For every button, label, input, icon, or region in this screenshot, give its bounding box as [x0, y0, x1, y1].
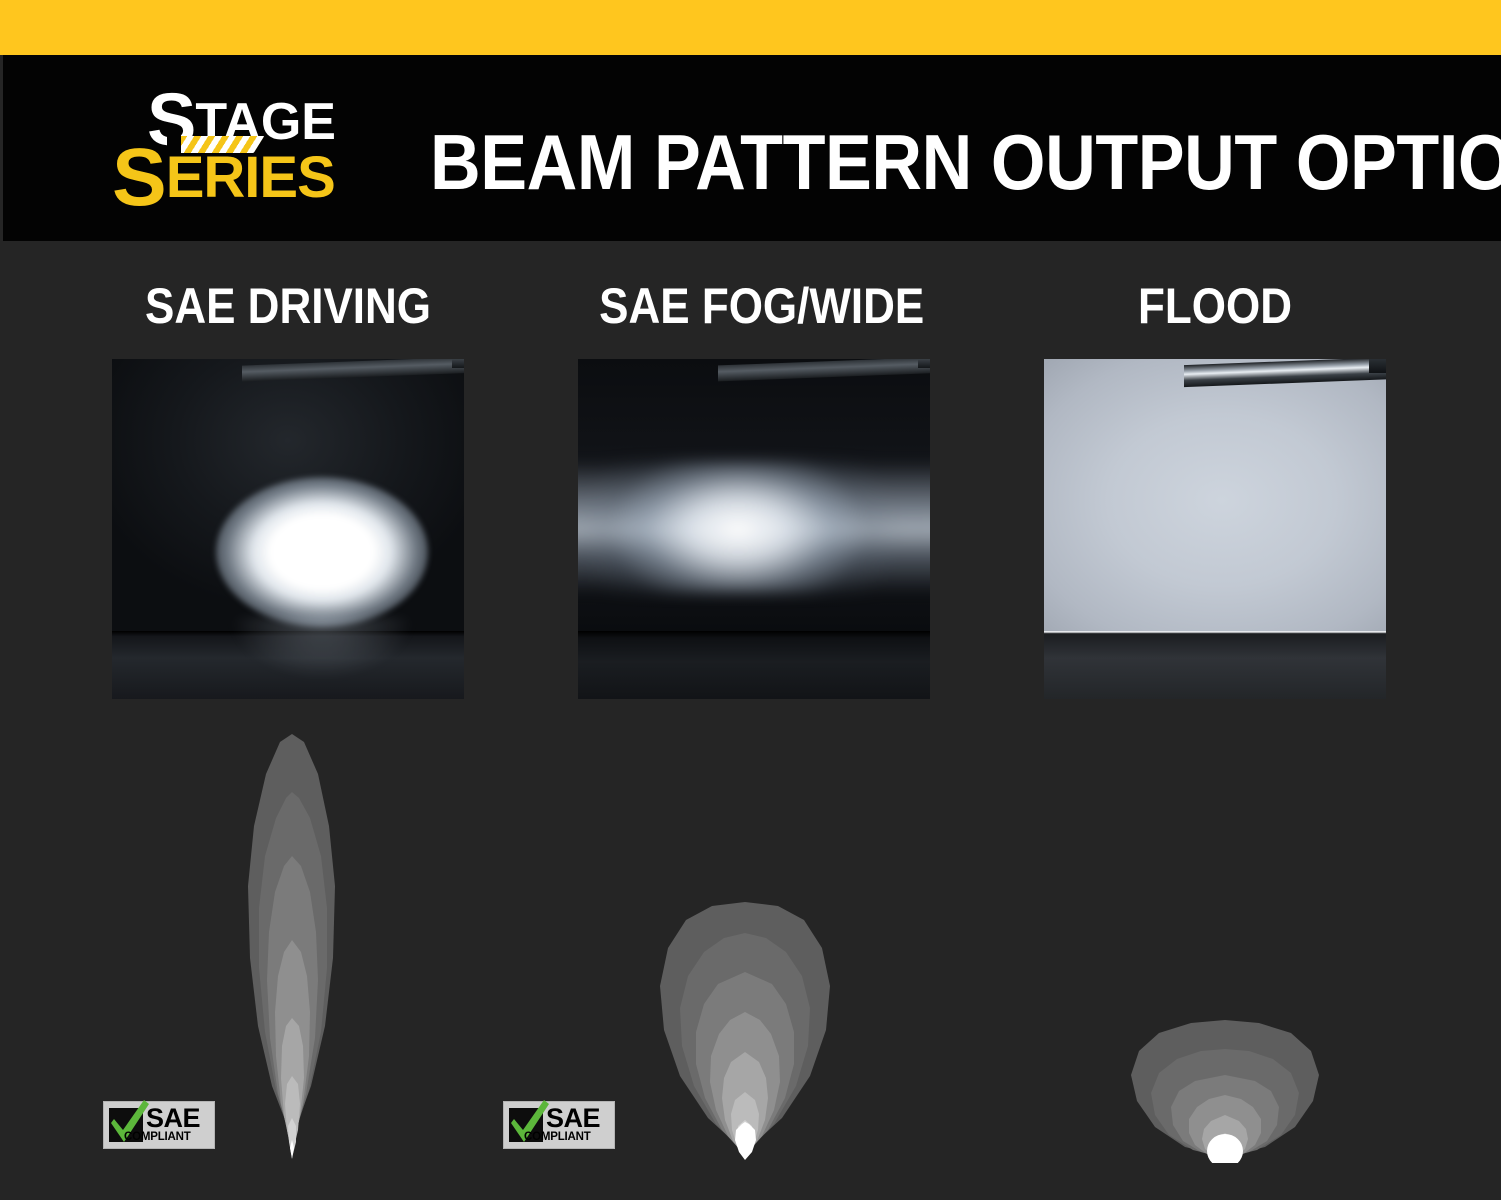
stage-series-logo: STAGE SERIES	[112, 83, 382, 208]
ceiling-beam-icon	[1369, 359, 1386, 373]
photo-floor	[578, 631, 930, 699]
beam-contours	[660, 902, 830, 1160]
photo-wall	[1044, 359, 1386, 631]
beam-diagram-sae-driving	[232, 726, 352, 1160]
beam-photo-flood	[1044, 359, 1386, 699]
beam-contours	[248, 734, 335, 1159]
sae-compliant-badge-driving: SAE COMPLIANT	[103, 1101, 215, 1149]
ceiling-beam-icon	[918, 359, 930, 368]
beam-hotspot	[578, 461, 930, 593]
logo-series-capital: S	[112, 137, 166, 219]
sae-compliant-badge-fog-wide: SAE COMPLIANT	[503, 1101, 615, 1149]
sae-badge-secondary: COMPLIANT	[124, 1131, 200, 1144]
beam-photo-sae-driving	[112, 359, 464, 699]
beam-diagram-flood	[1125, 1005, 1325, 1163]
beam-diagram-sae-fog-wide	[650, 900, 840, 1160]
beam-contours	[1131, 1020, 1319, 1163]
column-title-sae-fog-wide: SAE FOG/WIDE	[599, 278, 909, 334]
sae-badge-text: SAE COMPLIANT	[146, 1106, 200, 1144]
column-title-flood: FLOOD	[1065, 278, 1366, 334]
logo-series-rest: ERIES	[166, 149, 335, 207]
page-title: BEAM PATTERN OUTPUT OPTIONS	[430, 118, 1348, 218]
logo-word-series: SERIES	[112, 137, 335, 219]
beam-photo-sae-fog-wide	[578, 359, 930, 699]
photo-floor	[1044, 631, 1386, 699]
ceiling-beam-icon	[452, 359, 464, 368]
column-title-sae-driving: SAE DRIVING	[133, 278, 443, 334]
sae-badge-secondary: COMPLIANT	[524, 1131, 600, 1144]
sae-badge-primary: SAE	[546, 1106, 600, 1131]
sae-badge-text: SAE COMPLIANT	[546, 1106, 600, 1144]
floor-glow	[232, 617, 412, 677]
beam-hotspot	[216, 477, 428, 627]
top-accent-bar	[0, 0, 1501, 55]
sae-badge-primary: SAE	[146, 1106, 200, 1131]
